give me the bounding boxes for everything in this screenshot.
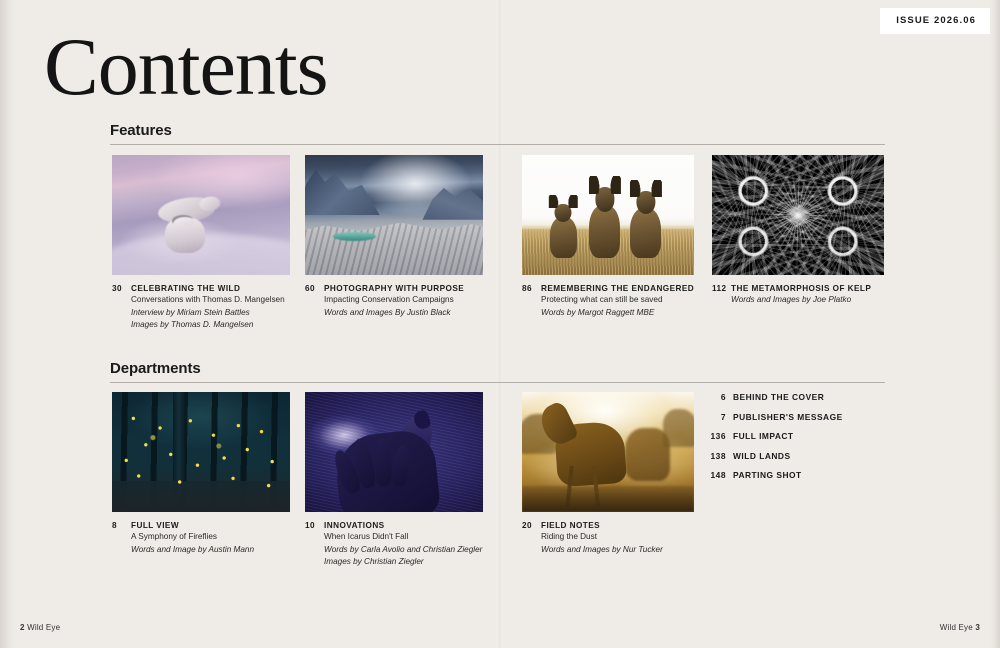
department-headline-2: 10INNOVATIONS xyxy=(305,521,483,531)
department-list-page-1: 6 xyxy=(700,392,726,402)
department-list-title-1: BEHIND THE COVER xyxy=(733,392,824,402)
department-image-moth xyxy=(305,392,483,512)
department-headline-3: 20FIELD NOTES xyxy=(522,521,694,531)
department-caption-1: 8FULL VIEW A Symphony of Fireflies Words… xyxy=(112,512,290,556)
feature-caption-4: 112THE METAMORPHOSIS OF KELP Words and I… xyxy=(712,275,884,307)
department-credit-2a: Words by Carla Avolio and Christian Zieg… xyxy=(324,544,483,556)
section-rule xyxy=(110,144,885,145)
finger-shape-3 xyxy=(374,438,393,487)
department-page-number-2: 10 xyxy=(305,521,321,531)
feature-headline-1: 30CELEBRATING THE WILD xyxy=(112,284,290,294)
footer-right: Wild Eye 3 xyxy=(940,623,980,632)
section-rule xyxy=(110,382,885,383)
department-list-title-2: PUBLISHER'S MESSAGE xyxy=(733,412,843,422)
department-subtitle-1: A Symphony of Fireflies xyxy=(131,531,290,543)
magazine-contents-page: ISSUE 2026.06 Contents Features 30CELEBR… xyxy=(0,0,1000,648)
feature-image-glacier xyxy=(305,155,483,275)
department-title-2: INNOVATIONS xyxy=(324,521,385,530)
department-caption-3: 20FIELD NOTES Riding the Dust Words and … xyxy=(522,512,694,556)
wild-dog-shape-2 xyxy=(589,205,620,258)
department-subtitle-2: When Icarus Didn't Fall xyxy=(324,531,483,543)
horse-background-shape xyxy=(625,428,670,481)
department-card-1[interactable]: 8FULL VIEW A Symphony of Fireflies Words… xyxy=(112,392,290,556)
feature-title-2: PHOTOGRAPHY WITH PURPOSE xyxy=(324,284,464,293)
department-credit-2b: Images by Christian Ziegler xyxy=(324,556,483,568)
feature-caption-1: 30CELEBRATING THE WILD Conversations wit… xyxy=(112,275,290,331)
mountain-peak-left-shape xyxy=(305,165,380,215)
feature-image-kelp xyxy=(712,155,884,275)
feature-credit-3a: Words by Margot Raggett MBE xyxy=(541,307,694,319)
feature-page-number-2: 60 xyxy=(305,284,321,294)
feature-credit-2a: Words and Images By Justin Black xyxy=(324,307,483,319)
feature-title-4: THE METAMORPHOSIS OF KELP xyxy=(731,284,871,293)
feature-headline-3: 86REMEMBERING THE ENDANGERED xyxy=(522,284,694,294)
page-gutter-left xyxy=(0,0,14,648)
department-image-horses xyxy=(522,392,694,512)
department-page-number-1: 8 xyxy=(112,521,128,531)
department-title-3: FIELD NOTES xyxy=(541,521,600,530)
page-gutter-right xyxy=(990,0,1000,648)
feature-caption-3: 86REMEMBERING THE ENDANGERED Protecting … xyxy=(522,275,694,319)
finger-shape-4 xyxy=(390,444,411,487)
department-credit-1a: Words and Image by Austin Mann xyxy=(131,544,290,556)
department-list-title-5: PARTING SHOT xyxy=(733,470,802,480)
department-caption-2: 10INNOVATIONS When Icarus Didn't Fall Wo… xyxy=(305,512,483,568)
section-label-departments: Departments xyxy=(110,360,885,382)
section-header-features: Features xyxy=(110,122,885,145)
mountain-peak-right-shape xyxy=(422,179,483,220)
department-card-3[interactable]: 20FIELD NOTES Riding the Dust Words and … xyxy=(522,392,694,556)
feature-subtitle-2: Impacting Conservation Campaigns xyxy=(324,294,483,306)
section-label-features: Features xyxy=(110,122,885,144)
feature-headline-2: 60PHOTOGRAPHY WITH PURPOSE xyxy=(305,284,483,294)
department-list-item[interactable]: 7 PUBLISHER'S MESSAGE xyxy=(700,412,885,422)
feature-subtitle-1: Conversations with Thomas D. Mangelsen xyxy=(131,294,290,306)
wild-dog-shape-1 xyxy=(550,217,578,258)
footer-title-left: Wild Eye xyxy=(27,623,60,632)
wild-dog-shape-3 xyxy=(630,208,661,258)
footer-page-number-left: 2 xyxy=(20,623,25,632)
section-header-departments: Departments xyxy=(110,360,885,383)
department-image-fireflies xyxy=(112,392,290,512)
glacier-ice-field-shape xyxy=(305,217,483,275)
feature-subtitle-3: Protecting what can still be saved xyxy=(541,294,694,306)
feature-card-2[interactable]: 60PHOTOGRAPHY WITH PURPOSE Impacting Con… xyxy=(305,155,483,319)
department-list-item[interactable]: 136 FULL IMPACT xyxy=(700,431,885,441)
department-headline-1: 8FULL VIEW xyxy=(112,521,290,531)
footer-page-number-right: 3 xyxy=(975,623,980,632)
feature-caption-2: 60PHOTOGRAPHY WITH PURPOSE Impacting Con… xyxy=(305,275,483,319)
department-card-2[interactable]: 10INNOVATIONS When Icarus Didn't Fall Wo… xyxy=(305,392,483,568)
feature-image-wild-dogs xyxy=(522,155,694,275)
issue-badge: ISSUE 2026.06 xyxy=(880,8,990,34)
department-list-page-5: 148 xyxy=(700,470,726,480)
department-list-title-3: FULL IMPACT xyxy=(733,431,794,441)
feature-page-number-4: 112 xyxy=(712,284,728,294)
feature-image-polar-bears xyxy=(112,155,290,275)
department-subtitle-3: Riding the Dust xyxy=(541,531,694,543)
feature-credit-4a: Words and Images by Joe Platko xyxy=(731,294,884,306)
department-credit-3a: Words and Images by Nur Tucker xyxy=(541,544,694,556)
ground-shape xyxy=(522,486,694,512)
feature-credit-1b: Images by Thomas D. Mangelsen xyxy=(131,319,290,331)
feature-page-number-3: 86 xyxy=(522,284,538,294)
page-spine xyxy=(499,0,501,648)
department-list-item[interactable]: 148 PARTING SHOT xyxy=(700,470,885,480)
feature-title-1: CELEBRATING THE WILD xyxy=(131,284,240,293)
department-index-list: 6 BEHIND THE COVER 7 PUBLISHER'S MESSAGE… xyxy=(700,392,885,490)
department-list-title-4: WILD LANDS xyxy=(733,451,791,461)
polar-bear-cub-shape xyxy=(165,217,204,253)
feature-card-1[interactable]: 30CELEBRATING THE WILD Conversations wit… xyxy=(112,155,290,331)
feature-title-3: REMEMBERING THE ENDANGERED xyxy=(541,284,694,293)
department-list-page-3: 136 xyxy=(700,431,726,441)
page-title: Contents xyxy=(44,26,328,108)
feature-credit-1a: Interview by Miriam Stein Battles xyxy=(131,307,290,319)
feature-headline-4: 112THE METAMORPHOSIS OF KELP xyxy=(712,284,884,294)
feature-page-number-1: 30 xyxy=(112,284,128,294)
footer-title-right: Wild Eye xyxy=(940,623,973,632)
firefly-lights-shape xyxy=(112,392,290,512)
department-list-item[interactable]: 138 WILD LANDS xyxy=(700,451,885,461)
department-list-page-2: 7 xyxy=(700,412,726,422)
feature-card-4[interactable]: 112THE METAMORPHOSIS OF KELP Words and I… xyxy=(712,155,884,307)
footer-left: 2 Wild Eye xyxy=(20,623,60,632)
department-title-1: FULL VIEW xyxy=(131,521,179,530)
department-page-number-3: 20 xyxy=(522,521,538,531)
feature-card-3[interactable]: 86REMEMBERING THE ENDANGERED Protecting … xyxy=(522,155,694,319)
department-list-page-4: 138 xyxy=(700,451,726,461)
department-list-item[interactable]: 6 BEHIND THE COVER xyxy=(700,392,885,402)
